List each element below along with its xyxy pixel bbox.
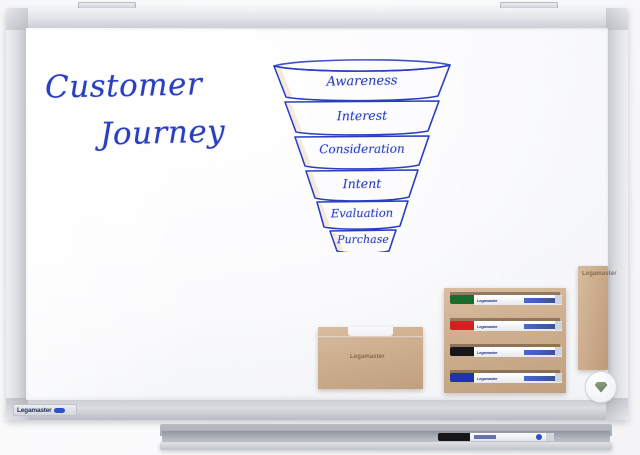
tray-marker-cap xyxy=(546,433,554,441)
marker-blue[interactable]: Legamaster xyxy=(450,373,562,382)
frame-corner-top-right xyxy=(606,8,628,30)
marker-nib-green xyxy=(450,295,474,304)
marker-cap-black xyxy=(555,347,562,356)
funnel-stage-label-purchase: Purchase xyxy=(326,233,400,247)
marker-nib-blue xyxy=(450,373,474,382)
funnel-stage-label-interest: Interest xyxy=(306,107,418,123)
diamond-icon xyxy=(595,382,608,393)
frame-brand-plate: Legamaster xyxy=(13,404,77,416)
holder-brand-logo: Legamaster xyxy=(350,354,385,360)
funnel-stage-label-awareness: Awareness xyxy=(298,73,426,90)
marker-band-black xyxy=(524,350,558,355)
pen-tray[interactable] xyxy=(160,424,612,450)
marker-red[interactable]: Legamaster xyxy=(450,321,562,330)
marker-green[interactable]: Legamaster xyxy=(450,295,562,304)
holder-notch xyxy=(348,327,393,336)
tray-marker-body xyxy=(470,433,554,441)
eraser-block[interactable]: Legamaster xyxy=(578,266,608,370)
brand-plate-text: Legamaster xyxy=(17,407,52,414)
funnel-stage-label-intent: Intent xyxy=(316,176,408,192)
marker-band-red xyxy=(524,324,558,329)
eraser-brand-logo: Legamaster xyxy=(582,271,617,277)
marker-body-black: Legamaster xyxy=(474,347,562,357)
marker-brand-green: Legamaster xyxy=(477,298,497,303)
funnel-stage-label-consideration: Consideration xyxy=(296,142,428,157)
pen-tray-front xyxy=(160,442,612,450)
marker-body-red: Legamaster xyxy=(474,321,562,331)
frame-corner-top-left xyxy=(6,8,28,30)
marker-body-green: Legamaster xyxy=(474,295,562,305)
frame-rail-left xyxy=(6,8,26,420)
tray-marker-black[interactable] xyxy=(438,433,554,441)
marker-nib-red xyxy=(450,321,474,330)
marker-brand-red: Legamaster xyxy=(477,324,497,329)
handwritten-title-line1: Customer xyxy=(45,66,203,105)
marker-band-blue xyxy=(524,376,558,381)
frame-corner-bottom-right xyxy=(606,398,628,420)
marker-body-blue: Legamaster xyxy=(474,373,562,383)
certification-seal-icon xyxy=(585,371,617,403)
tray-marker-logo-dot-icon xyxy=(536,434,542,440)
frame-rail-top xyxy=(6,8,628,30)
funnel-stage-label-evaluation: Evaluation xyxy=(316,206,408,221)
handwritten-title-line2: Journey xyxy=(100,113,226,152)
marker-brand-blue: Legamaster xyxy=(477,376,497,381)
marker-cap-red xyxy=(555,321,562,330)
tray-marker-band xyxy=(474,435,496,439)
frame-rail-right xyxy=(608,8,628,420)
marker-cap-green xyxy=(555,295,562,304)
marker-band-green xyxy=(524,298,558,303)
cardboard-pen-holder[interactable]: Legamaster xyxy=(318,327,423,389)
brand-plate-dot-icon xyxy=(54,408,65,413)
tray-marker-nib xyxy=(438,433,470,441)
holder-lip xyxy=(318,336,423,339)
marker-nib-black xyxy=(450,347,474,356)
marker-brand-black: Legamaster xyxy=(477,350,497,355)
frame-rail-bottom xyxy=(6,398,628,420)
marker-black[interactable]: Legamaster xyxy=(450,347,562,356)
marker-rack[interactable]: Legamaster Legamaster Legamaster xyxy=(444,288,566,393)
whiteboard-scene: Customer Journey xyxy=(0,0,640,455)
marker-cap-blue xyxy=(555,373,562,382)
customer-journey-funnel: Awareness Interest Consideration Intent … xyxy=(262,52,462,252)
